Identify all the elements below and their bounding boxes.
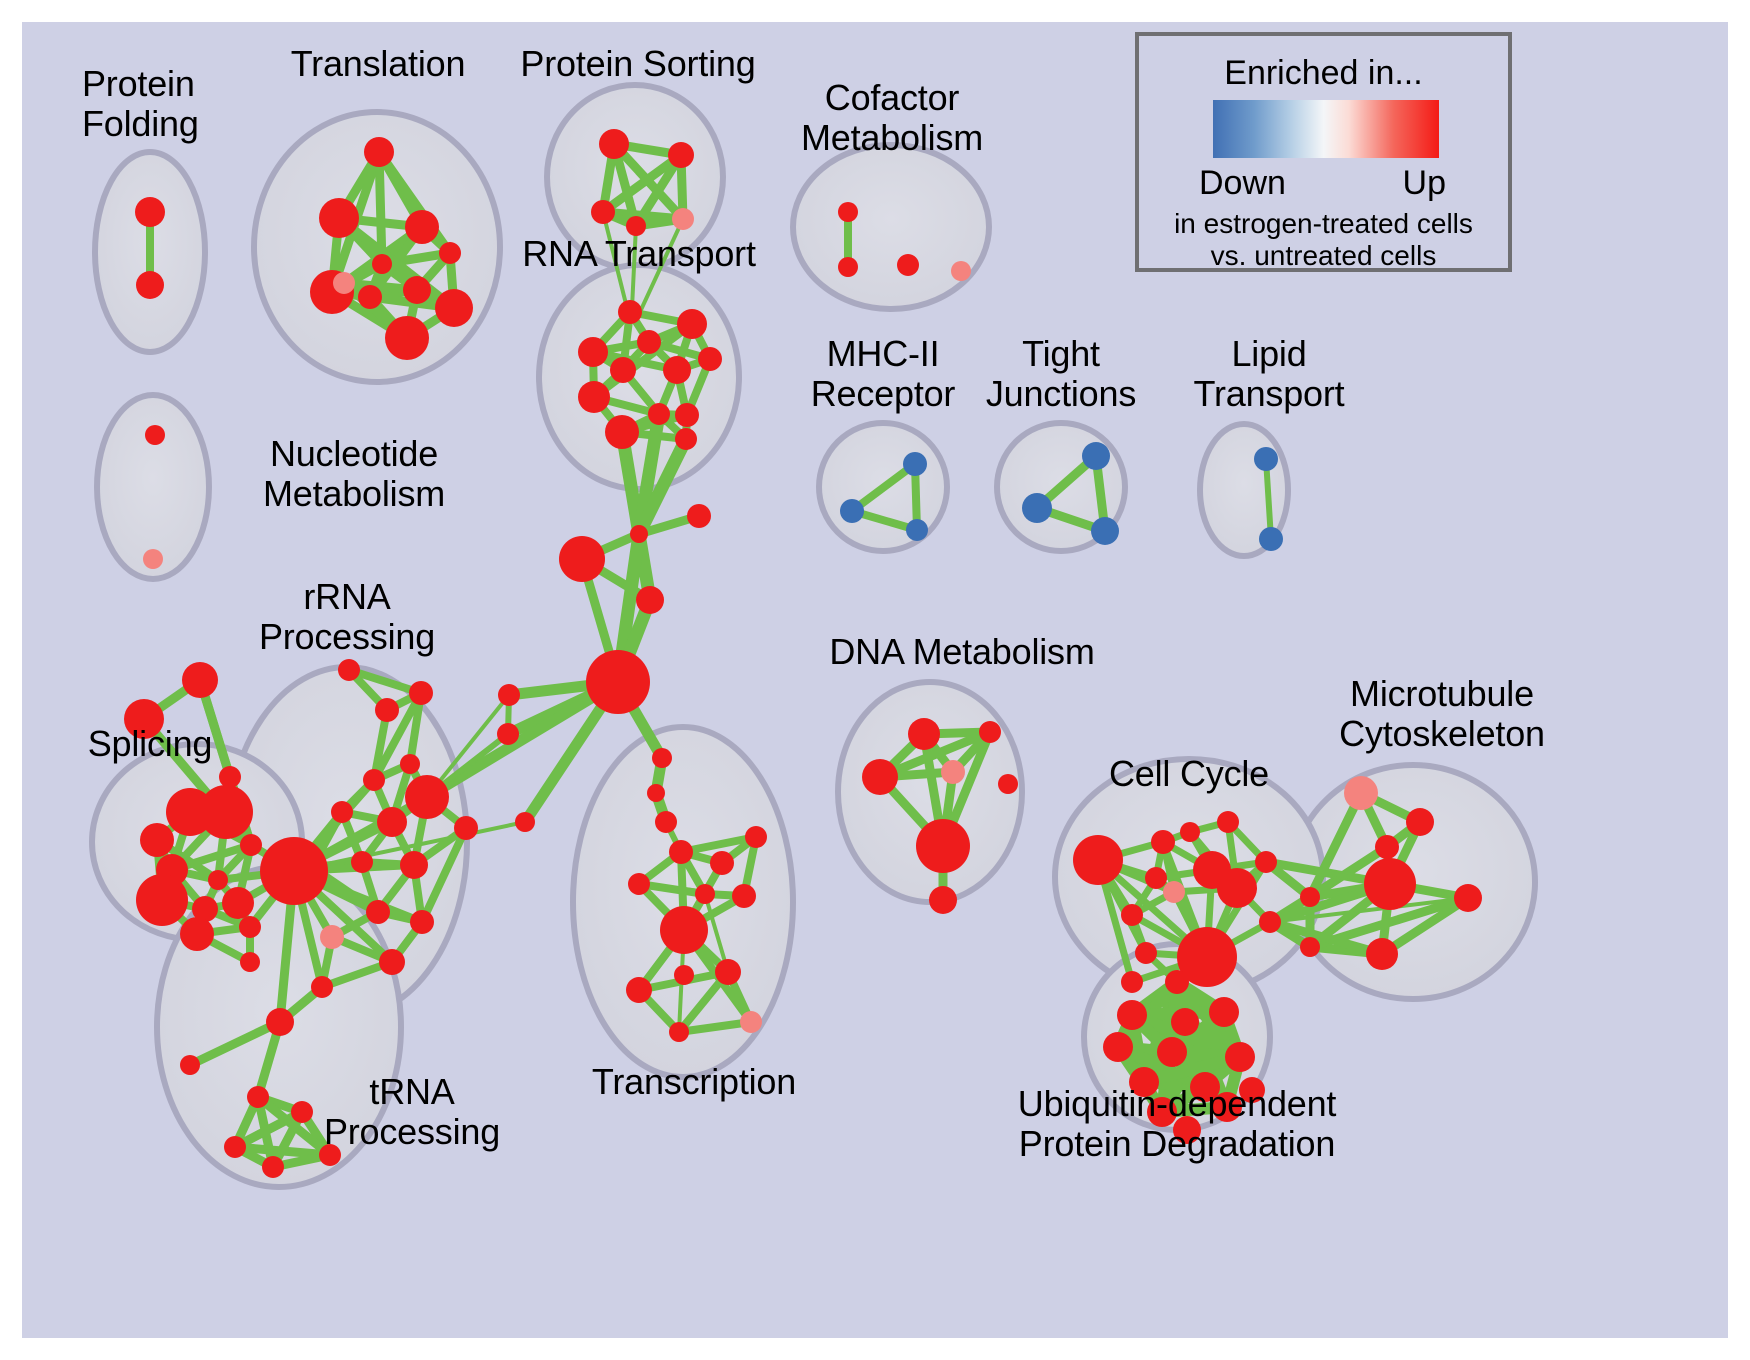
cluster-label-rna-transport: RNA Transport [479,234,799,274]
node [351,851,373,873]
node [1300,937,1320,957]
node [247,1086,269,1108]
node [732,884,756,908]
node [219,766,241,788]
node [715,959,741,985]
node [591,200,615,224]
node [675,403,699,427]
node [311,976,333,998]
cluster-label-ubiquitin-protein-degradation: Ubiquitin-dependent Protein Degradation [967,1084,1387,1165]
node [906,519,928,541]
node [364,137,394,167]
node [435,289,473,327]
node [637,330,661,354]
node [136,271,164,299]
node [180,1055,200,1075]
node [239,916,261,938]
node [941,760,965,784]
node [687,504,711,528]
node [497,723,519,745]
cluster-label-transcription: Transcription [554,1062,834,1102]
node [840,499,864,523]
node [222,887,254,919]
node [400,851,428,879]
cluster-label-rrna-processing: rRNA Processing [227,577,467,658]
node [605,415,639,449]
node [1082,442,1110,470]
legend-color-gradient-bar [1213,100,1439,158]
node [710,851,734,875]
node [262,1156,284,1178]
node [403,276,431,304]
node [838,257,858,277]
node [578,337,608,367]
node [1091,517,1119,545]
node [669,1022,689,1042]
node [862,759,898,795]
node [333,272,355,294]
node [224,1136,246,1158]
node [358,285,382,309]
node [363,769,385,791]
legend-title: Enriched in... [1139,54,1508,93]
node [838,202,858,222]
node [1225,1042,1255,1072]
node [135,197,165,227]
node [1217,868,1257,908]
cluster-label-microtubule-cytoskeleton: Microtubule Cytoskeleton [1287,674,1597,755]
node [1157,1037,1187,1067]
figure-canvas: Protein Folding Translation Protein Sort… [0,0,1750,1360]
node [208,870,228,890]
node [1300,887,1320,907]
node [578,381,610,413]
node [260,837,328,905]
node [1180,822,1200,842]
node [1209,997,1239,1027]
node [672,208,694,230]
node [1254,447,1278,471]
node [1121,971,1143,993]
node [663,356,691,384]
node [599,129,629,159]
node [636,586,664,614]
node [338,659,360,681]
node [1217,811,1239,833]
node [320,925,344,949]
node [1454,884,1482,912]
legend-label-down: Down [1199,164,1286,203]
cluster-label-splicing: Splicing [60,724,240,764]
node [439,242,461,264]
cluster-label-cell-cycle: Cell Cycle [1069,754,1309,794]
cluster-label-trna-processing: tRNA Processing [297,1072,527,1153]
node [660,906,708,954]
node [515,812,535,832]
node [979,721,1001,743]
node [669,840,693,864]
node [379,949,405,975]
node [1022,493,1052,523]
node [652,748,672,768]
node [410,910,434,934]
node [951,261,971,281]
cluster-label-dna-metabolism: DNA Metabolism [802,632,1122,672]
node [740,1011,762,1033]
node [586,650,650,714]
node [626,977,652,1003]
node [498,684,520,706]
node [998,774,1018,794]
legend-panel: Enriched in... Down Up in estrogen-treat… [1135,32,1512,272]
node [655,811,677,833]
node [405,210,439,244]
node [240,834,262,856]
cluster-label-protein-sorting: Protein Sorting [478,44,798,84]
cluster-label-lipid-transport: Lipid Transport [1159,334,1379,415]
cluster-label-tight-junctions: Tight Junctions [951,334,1171,415]
node [745,826,767,848]
node [143,549,163,569]
node [319,198,359,238]
node [400,754,420,774]
node [897,254,919,276]
node [1171,1008,1199,1036]
node [1165,970,1189,994]
node [405,775,449,819]
hull-rna-transport [539,265,739,489]
legend-sub-line-1: in estrogen-treated cells [1139,208,1508,240]
node [675,428,697,450]
hull-cofactor [793,145,989,309]
node [331,801,353,823]
cluster-label-translation: Translation [238,44,518,84]
node [136,874,188,926]
node [677,309,707,339]
node [668,142,694,168]
node [610,357,636,383]
node [1103,1032,1133,1062]
node [1259,911,1281,933]
node [180,917,214,951]
node [1364,858,1416,910]
node [1151,830,1175,854]
node [199,785,253,839]
node [630,525,648,543]
cluster-label-nucleotide-metabolism: Nucleotide Metabolism [204,434,504,515]
node [1344,776,1378,810]
node [1121,904,1143,926]
node [1255,851,1277,873]
node [409,681,433,705]
legend-sub-line-2: vs. untreated cells [1139,240,1508,272]
node [1135,942,1157,964]
node [366,900,390,924]
node [903,452,927,476]
node [628,873,650,895]
node [1145,867,1167,889]
node [1375,835,1399,859]
node [1406,808,1434,836]
node [695,884,715,904]
node [385,316,429,360]
node [674,965,694,985]
network-plot-area: Protein Folding Translation Protein Sort… [22,22,1728,1338]
node [372,254,392,274]
node [1073,835,1123,885]
node [266,1008,294,1036]
node [1163,881,1185,903]
node [140,823,174,857]
node [240,952,260,972]
node [559,536,605,582]
node [1259,527,1283,551]
node [647,784,665,802]
node [1117,1000,1147,1030]
node [375,698,399,722]
legend-label-up: Up [1403,164,1446,203]
node [145,425,165,445]
node [908,718,940,750]
node [618,300,642,324]
node [1366,938,1398,970]
node [648,403,670,425]
cluster-label-cofactor-metabolism: Cofactor Metabolism [752,78,1032,159]
node [454,816,478,840]
node [377,807,407,837]
node [182,662,218,698]
node [929,886,957,914]
node [698,347,722,371]
node [916,819,970,873]
